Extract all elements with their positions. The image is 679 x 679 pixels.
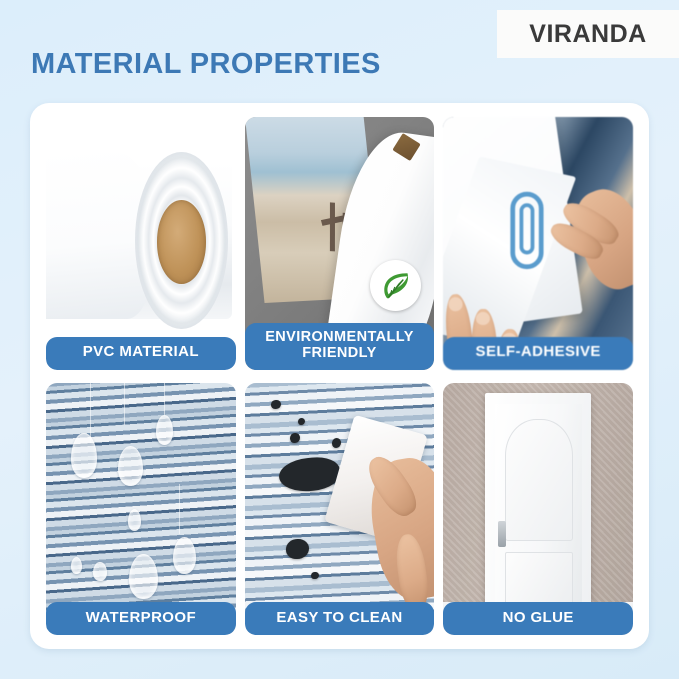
feature-card-self-adhesive[interactable]: SELF-ADHESIVE	[443, 117, 633, 370]
feature-label-waterproof: WATERPROOF	[46, 602, 236, 635]
brand-name: VIRANDA	[529, 20, 646, 49]
features-panel: PVC MATERIAL	[30, 103, 649, 649]
feature-label-easy-to-clean: EASY TO CLEAN	[245, 602, 435, 635]
water-droplets-illustration	[46, 383, 236, 636]
feature-card-no-glue[interactable]: NO GLUE	[443, 383, 633, 636]
feature-card-pvc-material[interactable]: PVC MATERIAL	[46, 117, 236, 370]
features-grid: PVC MATERIAL	[46, 117, 633, 635]
paperclip-icon	[508, 185, 546, 276]
door-illustration	[443, 383, 633, 636]
feature-card-environmentally-friendly[interactable]: ENVIRONMENTALLY FRIENDLY	[245, 117, 435, 370]
brand-badge: VIRANDA	[497, 10, 679, 58]
feature-card-easy-to-clean[interactable]: EASY TO CLEAN	[245, 383, 435, 636]
peel-backing-illustration	[443, 117, 633, 370]
page-title: MATERIAL PROPERTIES	[31, 48, 381, 81]
feature-label-no-glue: NO GLUE	[443, 602, 633, 635]
feature-label-pvc-material: PVC MATERIAL	[46, 337, 236, 370]
self-adhesive-image: SELF-ADHESIVE	[443, 117, 633, 370]
feature-label-self-adhesive: SELF-ADHESIVE	[443, 337, 633, 370]
feature-card-waterproof[interactable]: WATERPROOF	[46, 383, 236, 636]
waterproof-image: WATERPROOF	[46, 383, 236, 636]
feature-label-environmentally-friendly: ENVIRONMENTALLY FRIENDLY	[245, 323, 435, 369]
pvc-material-image: PVC MATERIAL	[46, 117, 236, 370]
easy-to-clean-image: EASY TO CLEAN	[245, 383, 435, 636]
wipe-stain-illustration	[245, 383, 435, 636]
pvc-roll-illustration	[46, 117, 236, 370]
no-glue-image: NO GLUE	[443, 383, 633, 636]
environmentally-friendly-image: ENVIRONMENTALLY FRIENDLY	[245, 117, 435, 370]
